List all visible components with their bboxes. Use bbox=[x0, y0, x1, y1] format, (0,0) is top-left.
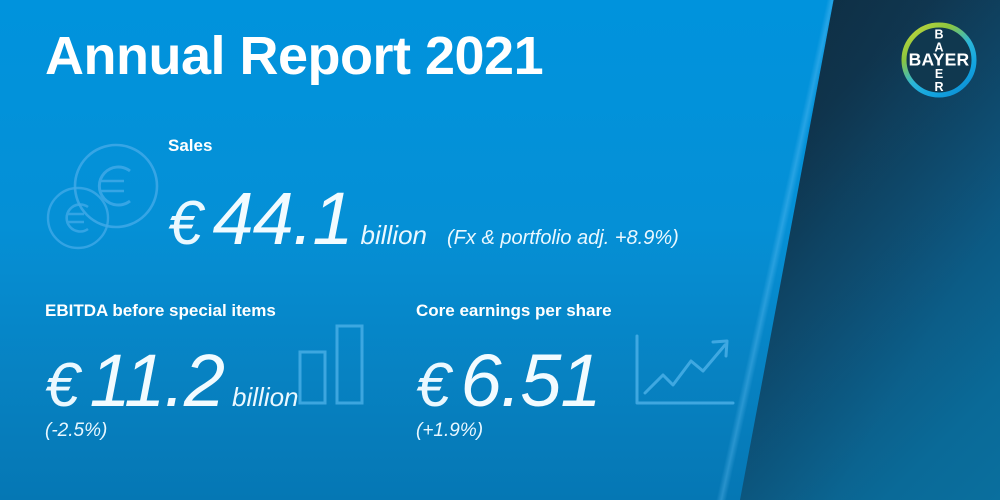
currency-symbol-sales: € bbox=[168, 188, 202, 259]
svg-text:E: E bbox=[935, 67, 943, 81]
currency-symbol-ebitda: € bbox=[45, 350, 79, 421]
metric-unit-sales: billion bbox=[361, 220, 428, 251]
metric-value-core-eps: € 6.51 bbox=[416, 338, 609, 423]
currency-symbol-core-eps: € bbox=[416, 350, 450, 421]
svg-text:B: B bbox=[934, 28, 943, 42]
annual-report-infographic: BAYER B A E R Annual Report 2021 bbox=[0, 0, 1000, 500]
metric-delta-ebitda: (-2.5%) bbox=[45, 420, 107, 442]
metric-label-core-eps: Core earnings per share bbox=[416, 301, 612, 321]
svg-text:A: A bbox=[934, 41, 943, 55]
metric-value-sales: € 44.1 billion (Fx & portfolio adj. +8.9… bbox=[168, 176, 679, 261]
metric-note-sales: (Fx & portfolio adj. +8.9%) bbox=[447, 227, 679, 250]
metric-label-sales: Sales bbox=[168, 136, 212, 156]
metric-value-ebitda: € 11.2 billion bbox=[45, 338, 299, 423]
bayer-logo: BAYER B A E R bbox=[897, 18, 981, 102]
metric-number-sales: 44.1 bbox=[212, 176, 352, 261]
euro-coins-icon bbox=[38, 142, 168, 254]
metric-unit-ebitda: billion bbox=[232, 382, 299, 413]
line-chart-icon bbox=[633, 333, 737, 415]
metric-number-ebitda: 11.2 bbox=[89, 338, 224, 423]
bar-chart-icon bbox=[297, 322, 369, 406]
page-title: Annual Report 2021 bbox=[45, 28, 543, 85]
metric-delta-core-eps: (+1.9%) bbox=[416, 420, 483, 442]
metric-label-ebitda: EBITDA before special items bbox=[45, 301, 276, 321]
metric-number-core-eps: 6.51 bbox=[460, 338, 600, 423]
svg-text:R: R bbox=[934, 80, 943, 94]
